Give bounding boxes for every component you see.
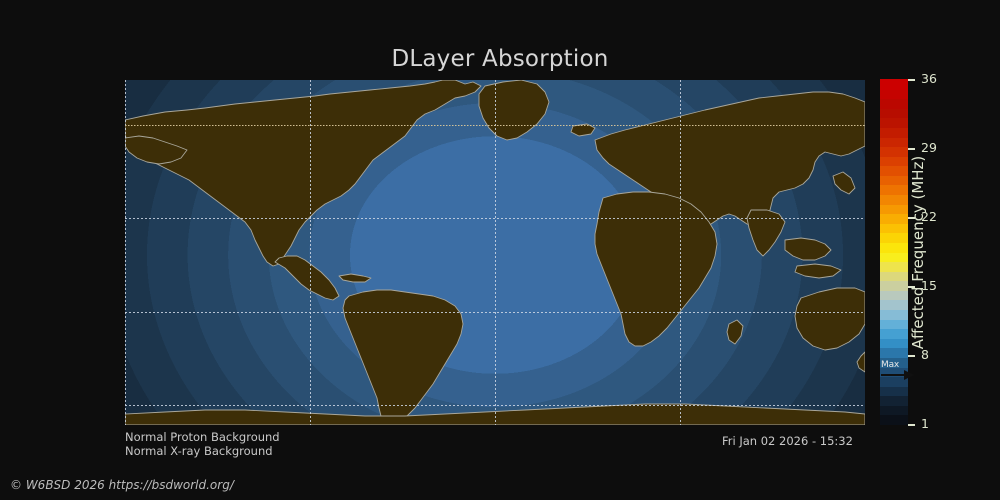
colorbar-axis-label-rotator: Affected Frequency (MHz) (903, 0, 933, 80)
page-title: DLayer Absorption (0, 46, 1000, 72)
colorbar-axis-label: Affected Frequency (MHz) (903, 80, 933, 425)
copyright-notice: © W6BSD 2026 https://bsdworld.org/ (10, 478, 234, 492)
xray-background-note: Normal X-ray Background (125, 444, 273, 458)
world-map-panel (125, 80, 865, 425)
dlayer-absorption-plot: DLayer Absorption (0, 0, 1000, 500)
timestamp-label: Fri Jan 02 2026 - 15:32 (722, 434, 853, 448)
proton-background-note: Normal Proton Background (125, 430, 280, 444)
colorbar-tick: 1 (908, 425, 968, 426)
world-landmasses (125, 80, 865, 425)
